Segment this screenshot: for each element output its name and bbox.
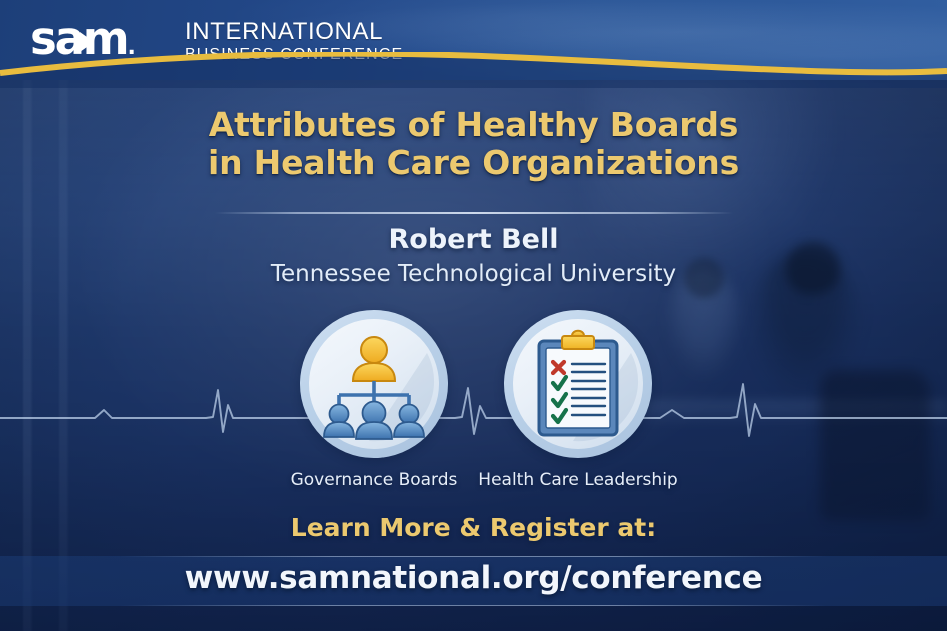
- speaker-organization: Tennessee Technological University: [0, 259, 947, 289]
- presentation-slide: sam. INTERNATIONAL BUSINESS CONFERENCE A…: [0, 0, 947, 631]
- conference-url[interactable]: www.samnational.org/conference: [0, 560, 947, 596]
- badge-label-health-care-leadership: Health Care Leadership: [448, 470, 708, 490]
- title-divider-rule: [215, 212, 733, 214]
- org-chart-people-icon: [309, 319, 439, 449]
- title-line-1: Attributes of Healthy Boards: [0, 106, 947, 144]
- speaker-name: Robert Bell: [0, 224, 947, 256]
- speaker-info: Robert Bell Tennessee Technological Univ…: [0, 224, 947, 289]
- slide-title: Attributes of Healthy Boards in Health C…: [0, 106, 947, 182]
- badge-health-care-leadership: Health Care Leadership: [504, 310, 652, 458]
- clipboard-checklist-icon: [513, 319, 643, 449]
- cta-text: Learn More & Register at:: [0, 513, 947, 542]
- slide-content: Attributes of Healthy Boards in Health C…: [0, 0, 947, 631]
- title-line-2: in Health Care Organizations: [0, 144, 947, 182]
- topic-badges: Governance Boards: [0, 310, 947, 510]
- badge-governance-boards: Governance Boards: [300, 310, 448, 458]
